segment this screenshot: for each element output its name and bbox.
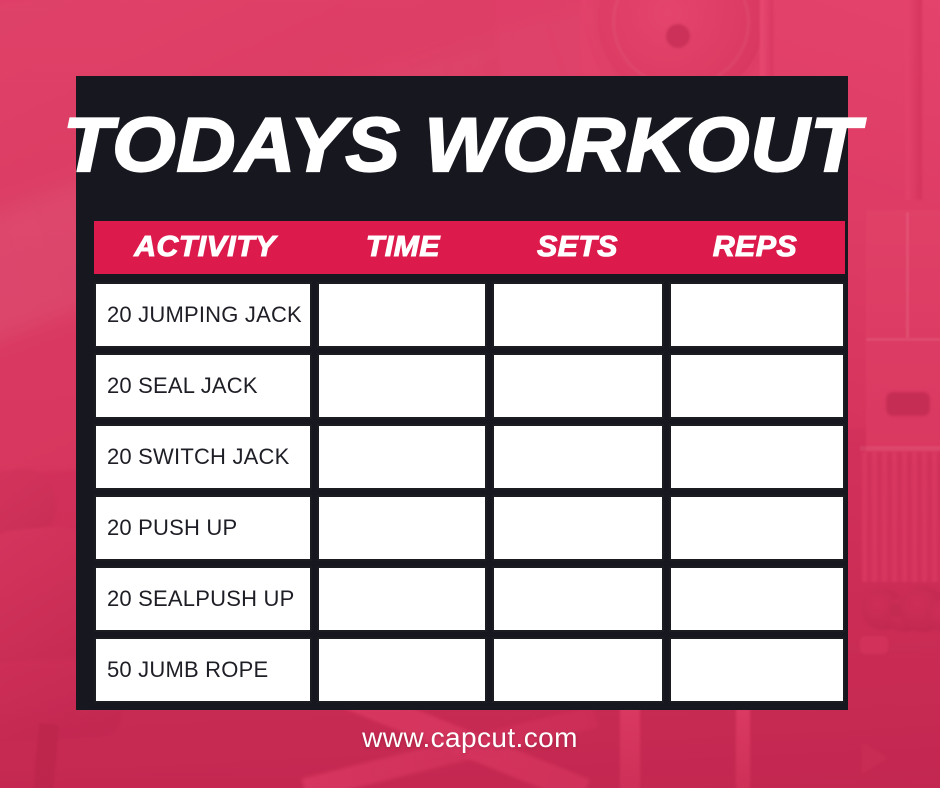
table-row: 20 SEALPUSH UP: [94, 566, 845, 632]
activity-label: 50 JUMB ROPE: [107, 657, 268, 683]
table-row: 20 PUSH UP: [94, 495, 845, 561]
cell-time[interactable]: [317, 353, 487, 419]
table-row: 20 SEAL JACK: [94, 353, 845, 419]
workout-table: ACTIVITY TIME SETS REPS 20 JUMPING JACK …: [94, 221, 845, 703]
cell-time[interactable]: [317, 637, 487, 703]
cell-reps[interactable]: [669, 637, 845, 703]
cell-time[interactable]: [317, 566, 487, 632]
column-header-time: TIME: [313, 221, 494, 274]
workout-poster: TODAYS WORKOUT ACTIVITY TIME SETS REPS 2…: [0, 0, 940, 788]
cell-sets[interactable]: [492, 637, 663, 703]
cell-activity: 50 JUMB ROPE: [94, 637, 312, 703]
activity-label: 20 SEALPUSH UP: [107, 586, 294, 612]
cell-sets[interactable]: [492, 424, 663, 490]
footer-website-url: www.capcut.com: [0, 722, 940, 754]
cell-activity: 20 SEALPUSH UP: [94, 566, 312, 632]
activity-label: 20 SWITCH JACK: [107, 444, 290, 470]
page-title: TODAYS WORKOUT: [49, 76, 875, 215]
column-header-sets: SETS: [487, 221, 669, 274]
table-header-row: ACTIVITY TIME SETS REPS: [94, 221, 845, 274]
cell-time[interactable]: [317, 495, 487, 561]
cell-time[interactable]: [317, 424, 487, 490]
cell-reps[interactable]: [669, 566, 845, 632]
workout-card-panel: TODAYS WORKOUT ACTIVITY TIME SETS REPS 2…: [76, 76, 848, 710]
cell-activity: 20 PUSH UP: [94, 495, 312, 561]
table-body: 20 JUMPING JACK 20 SEAL JACK 20 SWITCH J…: [94, 282, 845, 703]
cell-activity: 20 SEAL JACK: [94, 353, 312, 419]
cell-reps[interactable]: [669, 282, 845, 348]
cell-sets[interactable]: [492, 282, 663, 348]
cell-sets[interactable]: [492, 566, 663, 632]
activity-label: 20 PUSH UP: [107, 515, 237, 541]
table-row: 20 SWITCH JACK: [94, 424, 845, 490]
cell-time[interactable]: [317, 282, 487, 348]
cell-reps[interactable]: [669, 353, 845, 419]
column-header-activity: ACTIVITY: [90, 221, 321, 274]
cell-activity: 20 JUMPING JACK: [94, 282, 312, 348]
column-header-reps: REPS: [661, 221, 848, 274]
cell-activity: 20 SWITCH JACK: [94, 424, 312, 490]
table-row: 50 JUMB ROPE: [94, 637, 845, 703]
table-row: 20 JUMPING JACK: [94, 282, 845, 348]
cell-sets[interactable]: [492, 353, 663, 419]
cell-reps[interactable]: [669, 424, 845, 490]
activity-label: 20 JUMPING JACK: [107, 302, 302, 328]
activity-label: 20 SEAL JACK: [107, 373, 258, 399]
cell-reps[interactable]: [669, 495, 845, 561]
cell-sets[interactable]: [492, 495, 663, 561]
